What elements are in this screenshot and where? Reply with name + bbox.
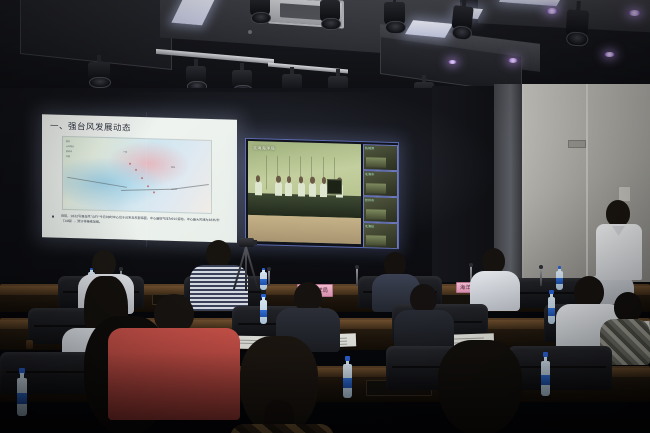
remote-room-floor	[248, 215, 361, 244]
water-bottle[interactable]	[259, 294, 268, 324]
remote-attendee	[255, 181, 262, 195]
video-feed-label: 北海海洋局	[253, 145, 275, 152]
remote-room-monitor	[327, 179, 342, 194]
light-track-bar-left	[156, 49, 274, 64]
remote-attendee	[309, 183, 316, 197]
presentation-slide: 一、强台风发展动态 图例 台风路径 警戒线 风圈 南海 广西 目前，1822号强…	[42, 114, 237, 242]
stage-light-4	[450, 5, 473, 41]
glass-door-bracket	[568, 140, 586, 148]
stage-light-6	[88, 62, 110, 88]
remote-attendee	[275, 182, 282, 196]
video-thumbnail-label: 钦州市	[365, 198, 374, 202]
desk-microphone[interactable]	[540, 268, 542, 286]
downlight-2	[628, 10, 641, 16]
remote-room-table	[248, 193, 361, 218]
downlight-5	[448, 60, 457, 64]
downlight-1	[546, 8, 558, 14]
video-camera-tripod[interactable]	[232, 238, 260, 290]
video-conference-panel: 北海海洋局 防城港 北海市 钦州市 北海站	[245, 138, 399, 249]
video-thumbnail-label: 北海市	[365, 172, 374, 176]
video-camera-icon	[239, 238, 254, 247]
remote-attendee	[298, 182, 305, 196]
screen-panel-seam	[146, 112, 147, 247]
video-thumbnail-strip: 防城港 北海市 钦州市 北海站	[363, 144, 396, 245]
video-thumbnail[interactable]: 北海市	[363, 170, 398, 197]
stage-light-5	[565, 9, 589, 46]
stage-light-2	[320, 0, 340, 30]
video-thumbnail[interactable]: 北海站	[363, 222, 398, 249]
ceiling-slab-far-right	[478, 0, 650, 33]
chair-front-row[interactable]	[508, 346, 612, 390]
ceiling	[0, 0, 650, 96]
stage-light-1	[250, 0, 270, 24]
video-thumbnail-label: 防城港	[365, 146, 374, 150]
video-thumbnail[interactable]: 钦州市	[363, 196, 398, 223]
video-thumbnail[interactable]: 防城港	[363, 144, 398, 171]
remote-attendee	[285, 182, 292, 196]
video-thumbnail-label: 北海站	[365, 224, 374, 228]
slide-bullet-point: 目前，1822号强台风"山竹"今日08时中心位于吕宋岛东部海面，中心最低气压为9…	[52, 214, 224, 219]
typhoon-track-map: 图例 台风路径 警戒线 风圈 南海 广西	[62, 136, 212, 214]
ceiling-acoustic-panel	[20, 0, 172, 70]
desk-microphone[interactable]	[356, 268, 358, 286]
stage-light-3	[384, 2, 405, 34]
downlight-4	[508, 58, 518, 63]
water-bottle[interactable]	[16, 368, 28, 416]
desk-microphone[interactable]	[268, 270, 270, 286]
conference-room-photo: 一、强台风发展动态 图例 台风路径 警戒线 风圈 南海 广西 目前，1822号强…	[0, 0, 650, 433]
water-bottle[interactable]	[260, 268, 267, 290]
video-conference-main-feed[interactable]: 北海海洋局	[248, 141, 361, 244]
water-bottle[interactable]	[556, 266, 563, 290]
water-bottle[interactable]	[540, 352, 551, 396]
slide-title: 一、强台风发展动态	[50, 120, 131, 134]
glass-panel-seam	[586, 84, 588, 299]
sprinkler-head	[248, 30, 252, 34]
downlight-3	[604, 52, 615, 57]
water-bottle[interactable]	[342, 356, 353, 398]
water-bottle[interactable]	[547, 290, 556, 324]
slide-bullet-text: 目前，1822号强台风"山竹"今日08时中心位于吕宋岛东部海面，中心最低气压为9…	[61, 214, 224, 228]
